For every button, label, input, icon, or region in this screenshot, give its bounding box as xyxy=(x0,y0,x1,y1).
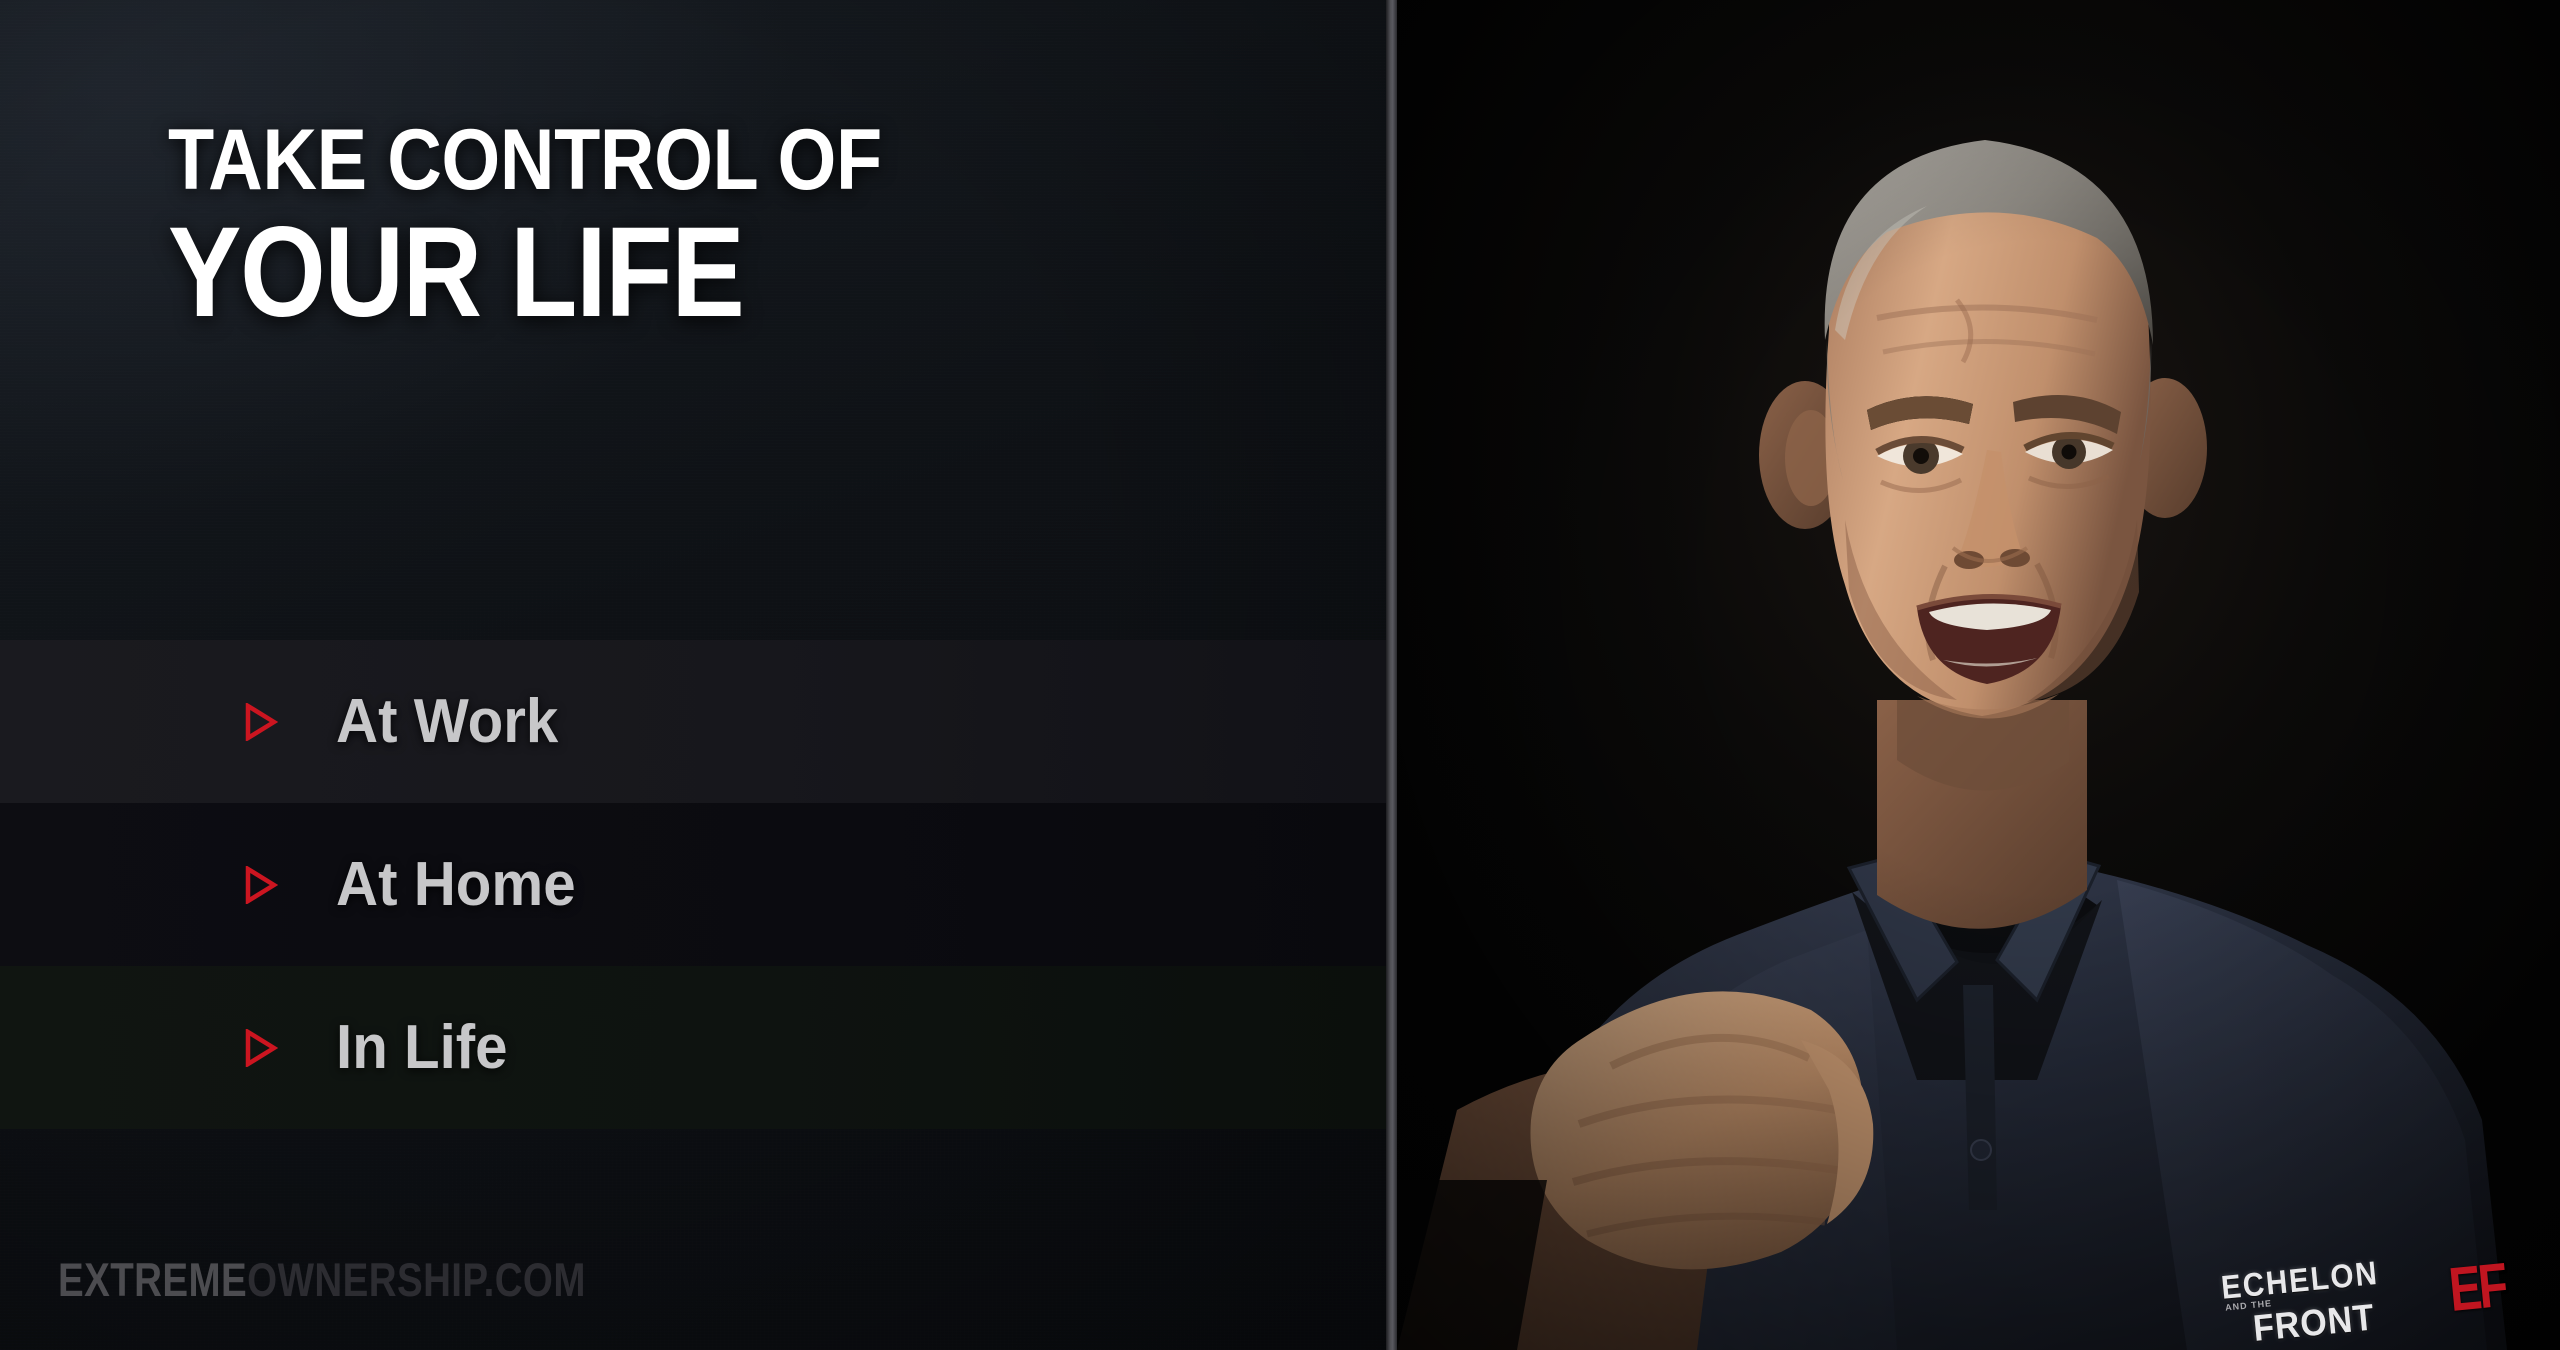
logo-monogram-ef: EF xyxy=(2446,1250,2508,1326)
text-panel: TAKE CONTROL OF YOUR LIFE At Work At Hom… xyxy=(0,0,1386,1350)
bullet-list: At Work At Home In Life xyxy=(0,640,1386,1129)
list-item-label: In Life xyxy=(336,1012,508,1083)
speaker-portrait xyxy=(1397,0,2560,1350)
list-item[interactable]: At Work xyxy=(0,640,1386,803)
triangle-right-icon xyxy=(244,1029,278,1067)
list-item[interactable]: In Life xyxy=(0,966,1386,1129)
watermark-primary: EXTREME xyxy=(58,1253,247,1306)
headline-line-1: TAKE CONTROL OF xyxy=(168,118,1136,203)
triangle-right-icon xyxy=(244,866,278,904)
portrait-illustration xyxy=(1397,0,2560,1350)
watermark-secondary: OWNERSHIP.COM xyxy=(247,1253,586,1306)
site-watermark: EXTREMEOWNERSHIP.COM xyxy=(58,1252,586,1307)
panel-divider xyxy=(1386,0,1397,1350)
list-item-label: At Home xyxy=(336,849,576,920)
presentation-slide: TAKE CONTROL OF YOUR LIFE At Work At Hom… xyxy=(0,0,2560,1350)
speaker-photo-panel: ECHELON AND THE FRONT EF xyxy=(1397,0,2560,1350)
page-title: TAKE CONTROL OF YOUR LIFE xyxy=(168,118,1268,337)
triangle-right-icon xyxy=(244,703,278,741)
list-item[interactable]: At Home xyxy=(0,803,1386,966)
list-item-label: At Work xyxy=(336,686,558,757)
headline-line-2: YOUR LIFE xyxy=(168,209,1114,337)
